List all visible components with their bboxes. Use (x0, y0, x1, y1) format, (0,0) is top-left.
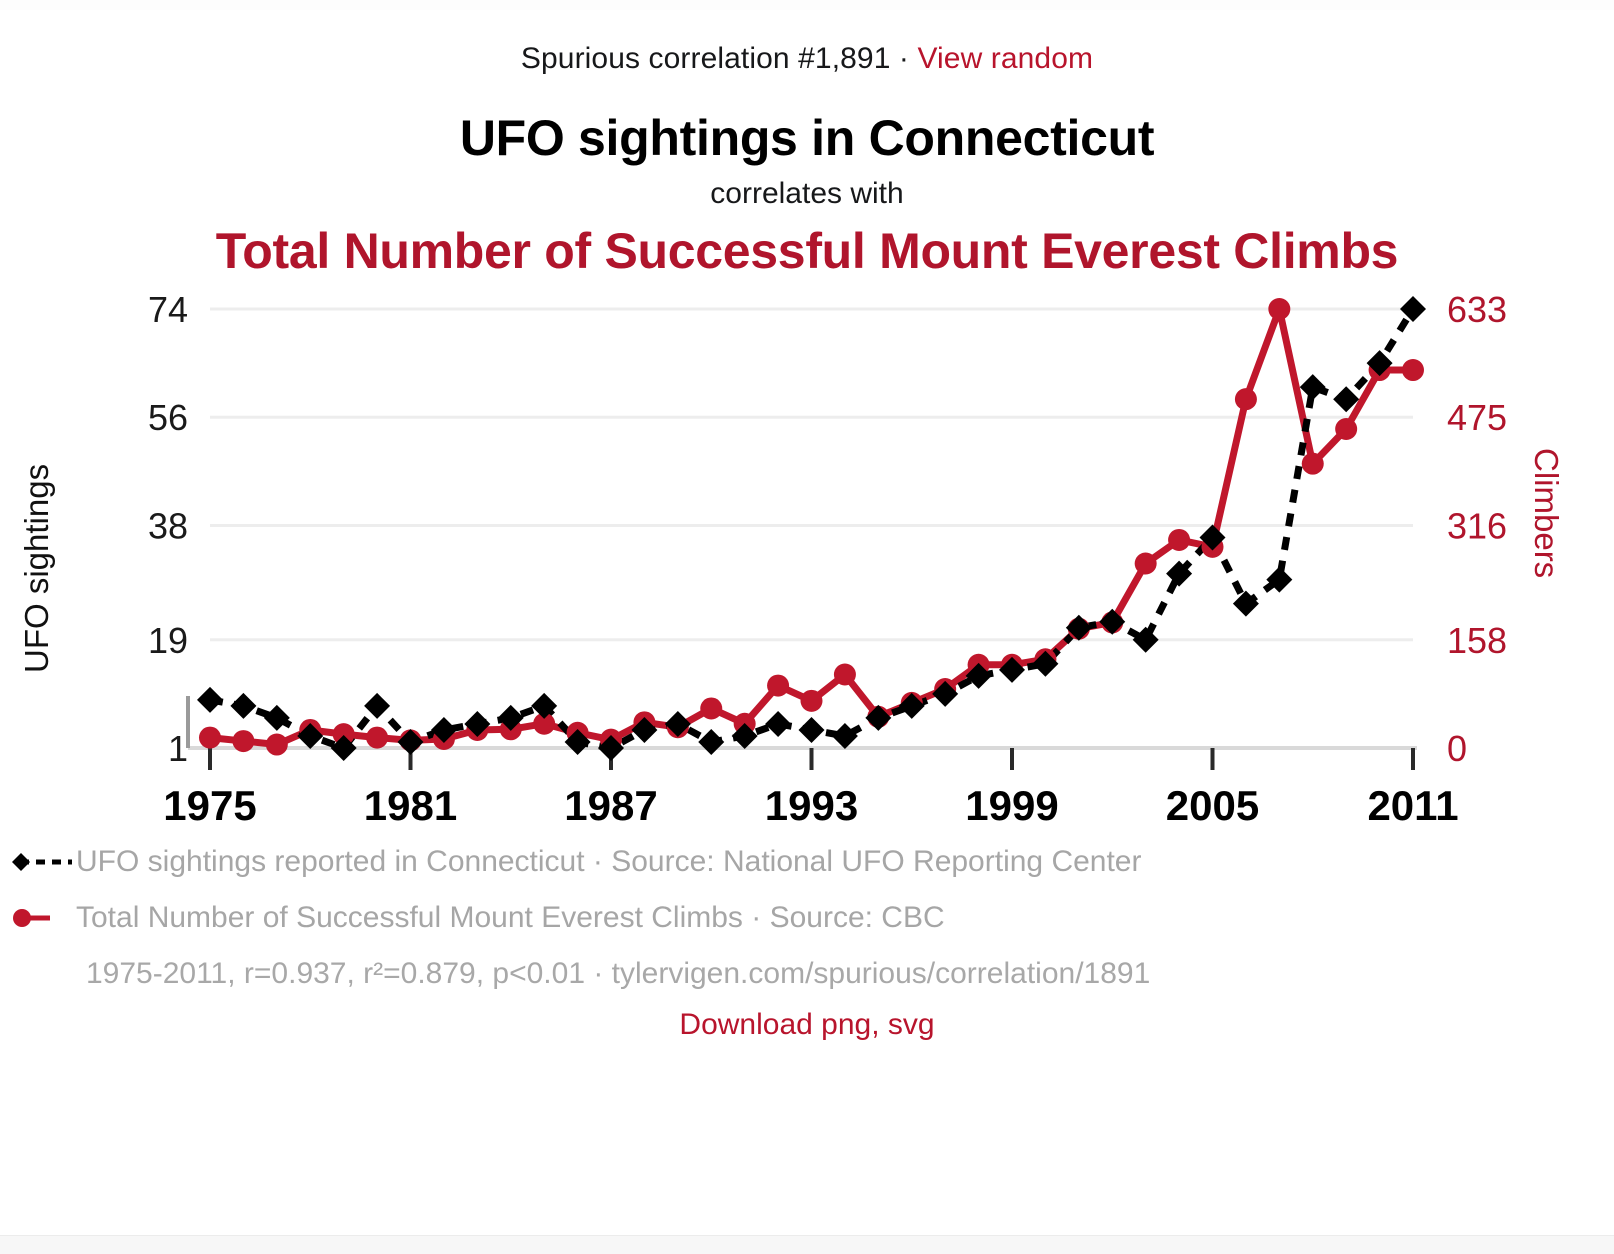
x-tick-label: 1999 (965, 782, 1058, 829)
legend-label-everest: Total Number of Successful Mount Everest… (76, 901, 945, 935)
page-title-primary: UFO sightings in Connecticut (460, 112, 1154, 165)
data-point-everest (1168, 529, 1190, 551)
data-point-ufo (799, 717, 825, 743)
data-point-ufo (264, 705, 290, 731)
axis-title-right: Climbers (1527, 448, 1565, 578)
data-point-ufo (531, 693, 557, 719)
data-point-everest (1135, 553, 1157, 575)
y-tick-left: 56 (148, 397, 188, 438)
dashed-line-marker-icon (10, 851, 76, 873)
data-point-ufo (364, 693, 390, 719)
correlation-chart: 1019158383165647574633197519811987199319… (0, 293, 1614, 838)
x-tick-label: 1993 (765, 782, 858, 829)
legend-label-ufo: UFO sightings reported in Connecticut · … (76, 845, 1141, 879)
data-point-everest (1235, 388, 1257, 410)
y-tick-left: 74 (148, 293, 188, 330)
bottom-strip (0, 1235, 1614, 1254)
data-point-everest (1302, 453, 1324, 475)
data-point-everest (1402, 359, 1424, 381)
download-png-link[interactable]: png (821, 1008, 871, 1041)
download-separator: , (871, 1008, 888, 1041)
page-title-secondary: Total Number of Successful Mount Everest… (216, 225, 1398, 278)
chart-canvas: 1019158383165647574633197519811987199319… (0, 293, 1614, 838)
data-point-ufo (765, 711, 791, 737)
legend-stats: 1975-2011, r=0.937, r²=0.879, p<0.01 · t… (10, 946, 1614, 1002)
x-tick-label: 2005 (1166, 782, 1259, 829)
data-point-ufo (698, 729, 724, 755)
x-tick-label: 1987 (564, 782, 657, 829)
data-point-ufo (1233, 591, 1259, 617)
y-tick-left: 19 (148, 620, 188, 661)
axis-title-left: UFO sightings (18, 464, 56, 673)
data-point-everest (366, 727, 388, 749)
data-point-everest (199, 727, 221, 749)
y-tick-right: 0 (1447, 728, 1467, 769)
data-point-everest (1268, 298, 1290, 320)
series-line-ufo (210, 309, 1413, 748)
y-tick-right: 633 (1447, 293, 1507, 330)
title-connector: correlates with (710, 179, 903, 209)
download-svg-link[interactable]: svg (888, 1008, 935, 1041)
data-point-everest (767, 675, 789, 697)
data-point-everest (232, 730, 254, 752)
data-point-ufo (1133, 627, 1159, 653)
y-tick-left: 38 (148, 505, 188, 546)
data-point-everest (834, 663, 856, 685)
data-point-ufo (1300, 374, 1326, 400)
y-tick-right: 475 (1447, 397, 1507, 438)
y-tick-right: 316 (1447, 505, 1507, 546)
chart-legend: UFO sightings reported in Connecticut · … (0, 834, 1614, 1002)
data-point-everest (1335, 418, 1357, 440)
data-point-everest (700, 697, 722, 719)
correlation-number: Spurious correlation #1,891 · (521, 42, 918, 75)
header-line: Spurious correlation #1,891 · View rando… (521, 44, 1093, 74)
data-point-ufo (197, 687, 223, 713)
data-point-everest (266, 734, 288, 756)
solid-line-marker-icon (10, 907, 76, 929)
top-strip (0, 0, 1614, 10)
download-label: Download (679, 1008, 821, 1041)
y-tick-left: 1 (168, 728, 188, 769)
download-row: Download png, svg (0, 1008, 1614, 1042)
data-point-everest (801, 690, 823, 712)
data-point-ufo (832, 723, 858, 749)
y-tick-right: 158 (1447, 620, 1507, 661)
view-random-link[interactable]: View random (917, 42, 1093, 75)
legend-item-ufo: UFO sightings reported in Connecticut · … (10, 834, 1614, 890)
x-tick-label: 1975 (163, 782, 256, 829)
x-tick-label: 1981 (364, 782, 457, 829)
data-point-ufo (230, 693, 256, 719)
spurious-correlation-page: Spurious correlation #1,891 · View rando… (0, 0, 1614, 1254)
x-tick-label: 2011 (1367, 782, 1458, 829)
data-point-ufo (398, 729, 424, 755)
legend-item-everest: Total Number of Successful Mount Everest… (10, 890, 1614, 946)
